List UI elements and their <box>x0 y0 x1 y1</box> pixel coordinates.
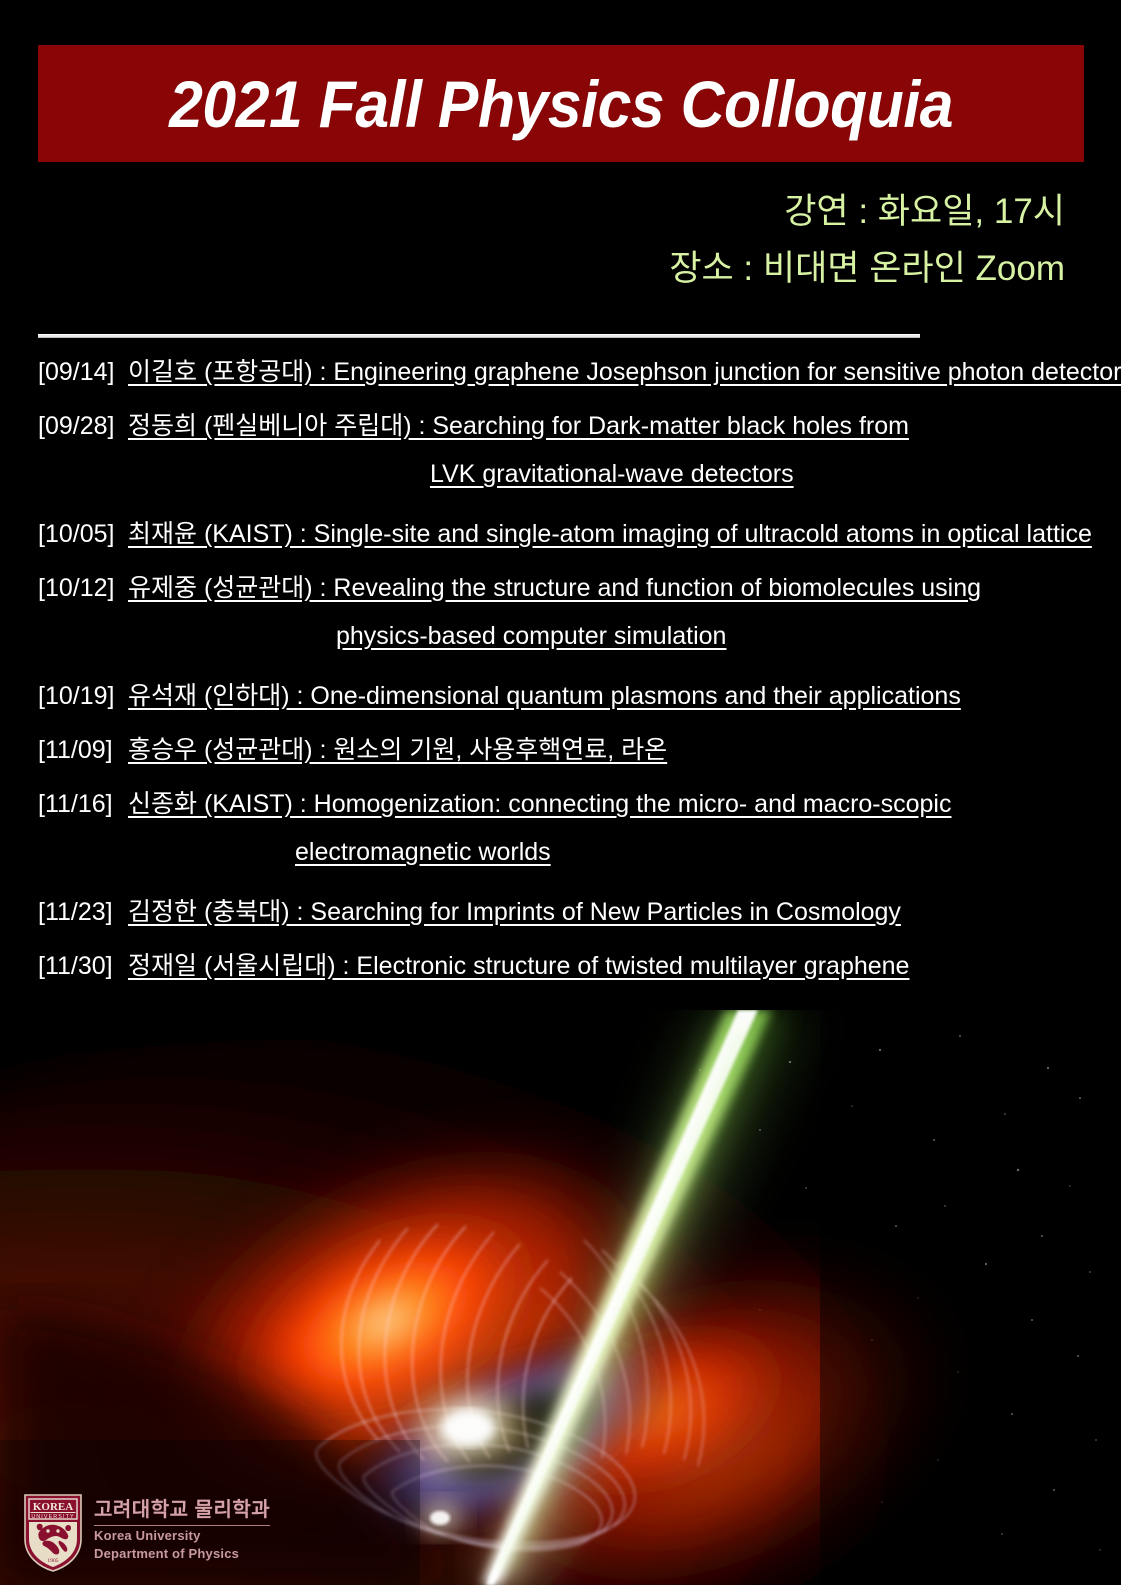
schedule-row: [11/09] 홍승우 (성균관대) : 원소의 기원, 사용후핵연료, 라온 <box>38 730 1083 784</box>
schedule-row: [10/19] 유석재 (인하대) : One-dimensional quan… <box>38 676 1083 730</box>
shield-sub-text: UNIVERSITY <box>31 1514 74 1520</box>
schedule-row: [09/14] 이길호 (포항공대) : Engineering graphen… <box>38 352 1083 406</box>
schedule-date: [10/05] <box>38 520 124 549</box>
schedule-row-continuation: LVK gravitational-wave detectors <box>38 460 1083 514</box>
schedule-title[interactable]: 유제중 (성균관대) : Revealing the structure and… <box>124 568 981 604</box>
ku-shield-icon: KOREA UNIVERSITY 1905 <box>22 1493 84 1573</box>
info-place-line: 장소 : 비대면 온라인 Zoom <box>669 240 1065 297</box>
schedule-row: [10/12] 유제중 (성균관대) : Revealing the struc… <box>38 568 1083 622</box>
event-info-block: 강연 : 화요일, 17시 장소 : 비대면 온라인 Zoom <box>669 183 1065 297</box>
schedule-title-continuation[interactable]: electromagnetic worlds <box>295 838 551 867</box>
logo-text-block: 고려대학교 물리학과 Korea University Department o… <box>94 1493 270 1562</box>
schedule-date: [11/23] <box>38 898 124 927</box>
schedule-row: [10/05] 최재윤 (KAIST) : Single-site and si… <box>38 514 1083 568</box>
schedule-row-continuation: electromagnetic worlds <box>38 838 1083 892</box>
shield-year: 1905 <box>47 1558 58 1564</box>
logo-korean-name: 고려대학교 물리학과 <box>94 1498 270 1526</box>
schedule-title[interactable]: 이길호 (포항공대) : Engineering graphene Joseph… <box>124 352 1121 388</box>
schedule-date: [11/30] <box>38 952 124 981</box>
schedule-date: [11/09] <box>38 736 124 765</box>
info-time-line: 강연 : 화요일, 17시 <box>669 183 1065 240</box>
shield-top-text: KOREA <box>33 1501 73 1513</box>
logo-english-line-1: Korea University <box>94 1528 270 1544</box>
schedule-title[interactable]: 유석재 (인하대) : One-dimensional quantum plas… <box>124 676 961 712</box>
colloquia-schedule-list: [09/14] 이길호 (포항공대) : Engineering graphen… <box>38 352 1083 1000</box>
schedule-title[interactable]: 최재윤 (KAIST) : Single-site and single-ato… <box>124 514 1092 550</box>
divider-top <box>38 334 920 338</box>
schedule-title-continuation[interactable]: physics-based computer simulation <box>336 622 726 651</box>
schedule-date: [09/28] <box>38 412 124 441</box>
schedule-row: [11/23] 김정한 (충북대) : Searching for Imprin… <box>38 892 1083 946</box>
schedule-date: [10/19] <box>38 682 124 711</box>
schedule-title-continuation[interactable]: LVK gravitational-wave detectors <box>430 460 794 489</box>
schedule-title[interactable]: 김정한 (충북대) : Searching for Imprints of Ne… <box>124 892 901 928</box>
schedule-title[interactable]: 신종화 (KAIST) : Homogenization: connecting… <box>124 784 951 820</box>
page-title: 2021 Fall Physics Colloquia <box>169 66 953 142</box>
title-banner: 2021 Fall Physics Colloquia <box>38 45 1084 162</box>
schedule-row: [11/16] 신종화 (KAIST) : Homogenization: co… <box>38 784 1083 838</box>
schedule-title[interactable]: 정재일 (서울시립대) : Electronic structure of tw… <box>124 946 909 982</box>
logo-english-line-2: Department of Physics <box>94 1546 270 1562</box>
schedule-date: [10/12] <box>38 574 124 603</box>
schedule-date: [09/14] <box>38 358 124 387</box>
schedule-row: [09/28] 정동희 (펜실베니아 주립대) : Searching for … <box>38 406 1083 460</box>
schedule-row-continuation: physics-based computer simulation <box>38 622 1083 676</box>
schedule-title[interactable]: 홍승우 (성균관대) : 원소의 기원, 사용후핵연료, 라온 <box>124 730 667 766</box>
korea-university-logo: KOREA UNIVERSITY 1905 고려대학교 물리학과 Korea U… <box>22 1493 270 1573</box>
schedule-row: [11/30] 정재일 (서울시립대) : Electronic structu… <box>38 946 1083 1000</box>
schedule-title[interactable]: 정동희 (펜실베니아 주립대) : Searching for Dark-mat… <box>124 406 909 442</box>
schedule-date: [11/16] <box>38 790 124 819</box>
